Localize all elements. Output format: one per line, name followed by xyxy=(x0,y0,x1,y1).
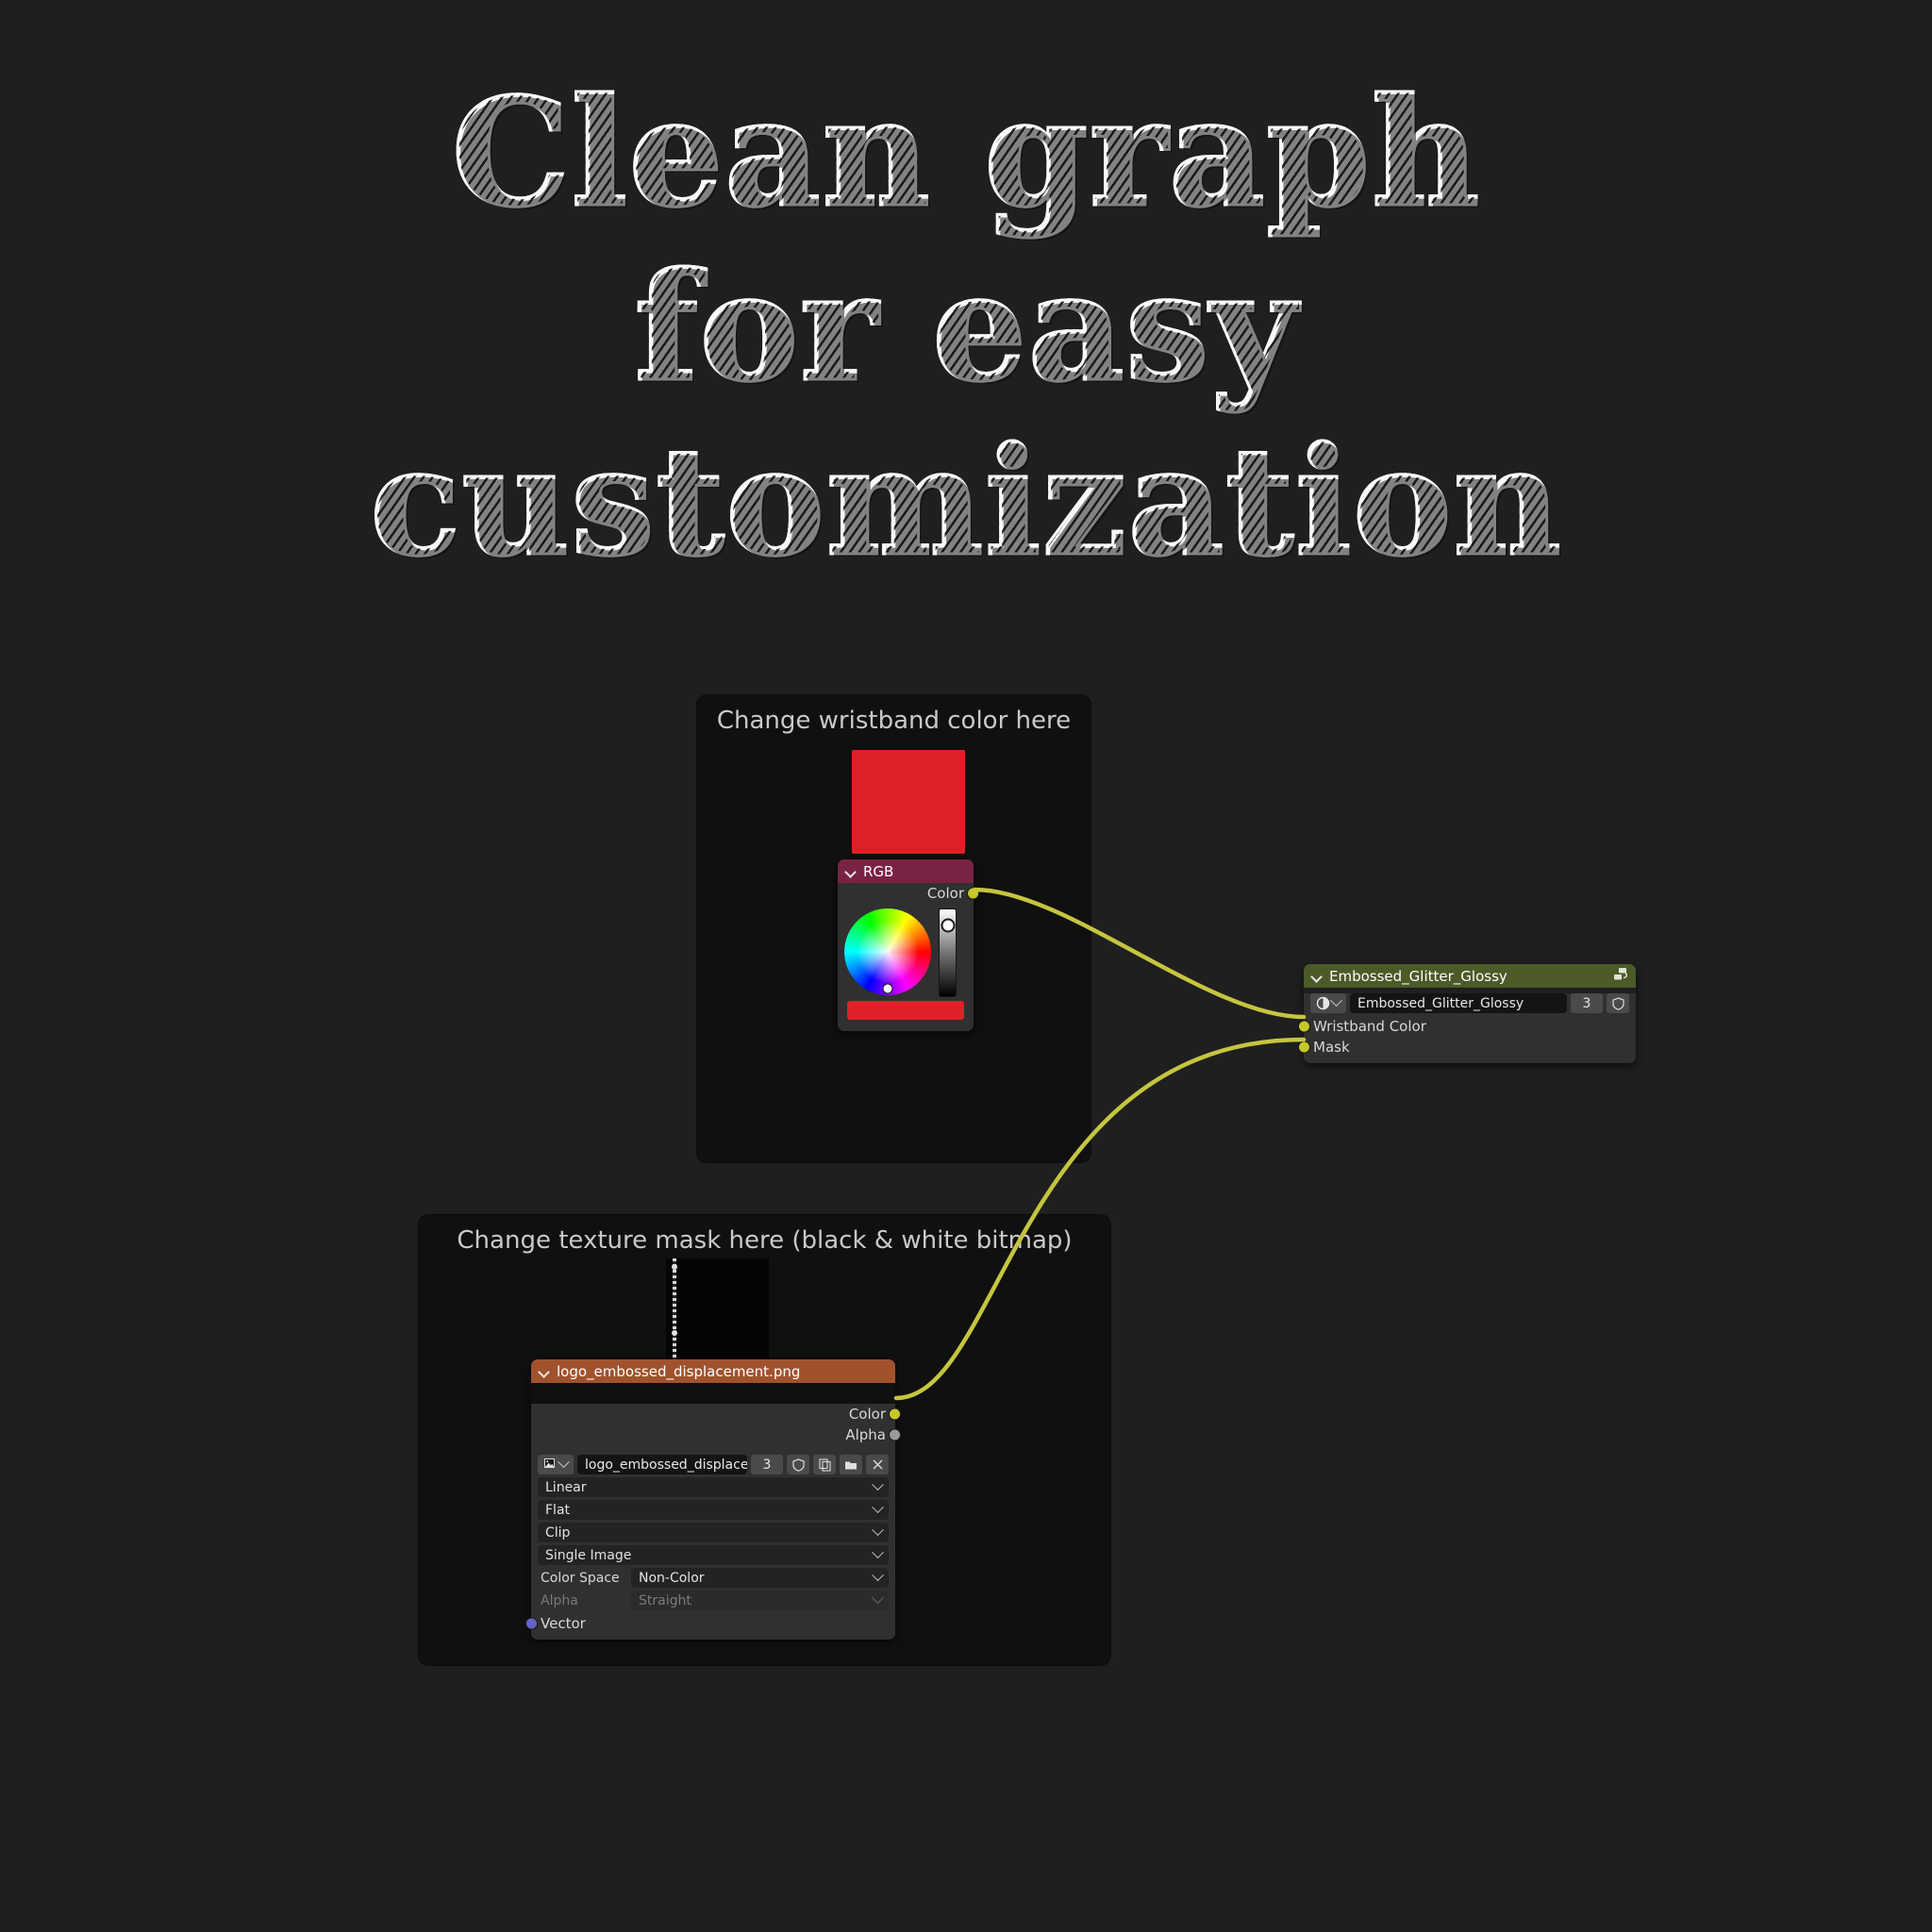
rgb-color-picker[interactable] xyxy=(844,908,967,997)
projection-value: Flat xyxy=(545,1503,570,1518)
interpolation-select[interactable]: Linear xyxy=(538,1477,889,1497)
shield-icon[interactable] xyxy=(1607,993,1629,1013)
node-rgb-body: Color xyxy=(838,883,974,1031)
image-output-alpha[interactable]: Alpha xyxy=(531,1424,895,1445)
chevron-down-icon xyxy=(872,1569,884,1581)
nodetree-datablock-selector[interactable] xyxy=(1310,993,1346,1013)
color-space-select[interactable]: Non-Color xyxy=(631,1568,889,1588)
color-space-row[interactable]: Color Space Non-Color xyxy=(538,1568,889,1588)
interpolation-value: Linear xyxy=(545,1480,587,1495)
color-space-label: Color Space xyxy=(538,1571,627,1586)
node-image-texture-body: Color Alpha logo_embossed_displacement.p… xyxy=(531,1404,895,1640)
group-name-field[interactable]: Embossed_Glitter_Glossy xyxy=(1350,993,1567,1013)
source-row[interactable]: Single Image xyxy=(538,1545,889,1565)
group-input-mask[interactable]: Mask xyxy=(1304,1037,1636,1058)
extension-value: Clip xyxy=(545,1525,570,1541)
image-datablock-row[interactable]: logo_embossed_displacement.png 3 xyxy=(538,1455,889,1474)
value-slider-knob[interactable] xyxy=(941,918,955,932)
mask-bitmap-stripe xyxy=(673,1258,676,1370)
socket-label-color: Color xyxy=(849,1406,886,1423)
extension-select[interactable]: Clip xyxy=(538,1523,889,1542)
node-rgb-header[interactable]: RGB xyxy=(838,859,974,883)
extension-row[interactable]: Clip xyxy=(538,1523,889,1542)
frame-label-mask: Change texture mask here (black & white … xyxy=(419,1226,1110,1255)
shield-icon[interactable] xyxy=(787,1455,809,1474)
wristband-color-preview xyxy=(852,750,965,854)
value-slider[interactable] xyxy=(939,908,957,997)
color-wheel[interactable] xyxy=(844,908,931,995)
chevron-down-icon[interactable] xyxy=(1330,994,1342,1007)
node-image-texture-header[interactable]: logo_embossed_displacement.png xyxy=(531,1359,895,1383)
chevron-down-icon xyxy=(872,1591,884,1604)
socket-label-color: Color xyxy=(927,885,964,902)
socket-wristband-color-in[interactable] xyxy=(1298,1021,1310,1033)
alpha-mode-row: Alpha Straight xyxy=(538,1591,889,1610)
frame-label-color: Change wristband color here xyxy=(697,707,1091,735)
node-group-header[interactable]: Embossed_Glitter_Glossy xyxy=(1304,964,1636,988)
chevron-down-icon[interactable] xyxy=(1311,971,1323,982)
image-icon xyxy=(544,1458,558,1471)
node-editor-canvas[interactable]: Change wristband color here Change textu… xyxy=(0,0,1932,1932)
nodetree-icon xyxy=(1316,996,1330,1010)
color-wheel-cursor[interactable] xyxy=(883,983,893,993)
alpha-mode-select: Straight xyxy=(631,1591,889,1610)
chevron-down-icon xyxy=(872,1524,884,1536)
folder-icon[interactable] xyxy=(840,1455,862,1474)
group-users-count[interactable]: 3 xyxy=(1571,993,1603,1013)
node-image-texture[interactable]: logo_embossed_displacement.png Color Alp… xyxy=(531,1359,895,1640)
image-output-color[interactable]: Color xyxy=(531,1404,895,1424)
chevron-down-icon xyxy=(872,1546,884,1558)
socket-color-out[interactable] xyxy=(889,1408,901,1421)
node-group-icon[interactable] xyxy=(1612,967,1628,986)
node-rgb[interactable]: RGB Color xyxy=(838,859,974,1031)
chevron-down-icon xyxy=(872,1501,884,1513)
node-group-body: Embossed_Glitter_Glossy 3 Wristband Colo… xyxy=(1304,993,1636,1063)
group-datablock-row[interactable]: Embossed_Glitter_Glossy 3 xyxy=(1310,993,1629,1013)
chevron-down-icon[interactable] xyxy=(845,866,857,877)
socket-mask-in[interactable] xyxy=(1298,1041,1310,1054)
source-select[interactable]: Single Image xyxy=(538,1545,889,1565)
alpha-mode-value: Straight xyxy=(639,1593,691,1608)
image-name-field[interactable]: logo_embossed_displacement.png xyxy=(577,1455,747,1474)
close-icon[interactable] xyxy=(866,1455,889,1474)
socket-label-wristband-color: Wristband Color xyxy=(1313,1018,1426,1035)
node-rgb-title: RGB xyxy=(863,863,893,880)
socket-color-out[interactable] xyxy=(967,888,979,900)
copy-icon[interactable] xyxy=(813,1455,836,1474)
projection-select[interactable]: Flat xyxy=(538,1500,889,1520)
alpha-mode-label: Alpha xyxy=(538,1593,627,1608)
interpolation-row[interactable]: Linear xyxy=(538,1477,889,1497)
image-datablock-selector[interactable] xyxy=(538,1455,574,1474)
color-space-value: Non-Color xyxy=(639,1571,705,1586)
node-group-embossed-glitter-glossy[interactable]: Embossed_Glitter_Glossy Em xyxy=(1304,964,1636,1063)
image-input-vector[interactable]: Vector xyxy=(531,1613,895,1634)
socket-vector-in[interactable] xyxy=(525,1618,538,1630)
image-users-count[interactable]: 3 xyxy=(751,1455,783,1474)
rgb-result-swatch[interactable] xyxy=(847,1001,964,1020)
chevron-down-icon xyxy=(872,1478,884,1491)
socket-label-vector: Vector xyxy=(541,1615,586,1632)
projection-row[interactable]: Flat xyxy=(538,1500,889,1520)
node-group-title: Embossed_Glitter_Glossy xyxy=(1329,968,1507,985)
group-input-wristband-color[interactable]: Wristband Color xyxy=(1304,1016,1636,1037)
mask-bitmap-preview xyxy=(666,1258,769,1370)
socket-label-alpha: Alpha xyxy=(845,1426,886,1443)
socket-alpha-out[interactable] xyxy=(889,1429,901,1441)
chevron-down-icon[interactable] xyxy=(558,1456,570,1468)
node-image-texture-title: logo_embossed_displacement.png xyxy=(557,1363,800,1380)
chevron-down-icon[interactable] xyxy=(539,1366,550,1377)
socket-label-mask: Mask xyxy=(1313,1039,1350,1056)
source-value: Single Image xyxy=(545,1548,631,1563)
node-rgb-output-color[interactable]: Color xyxy=(838,883,974,904)
